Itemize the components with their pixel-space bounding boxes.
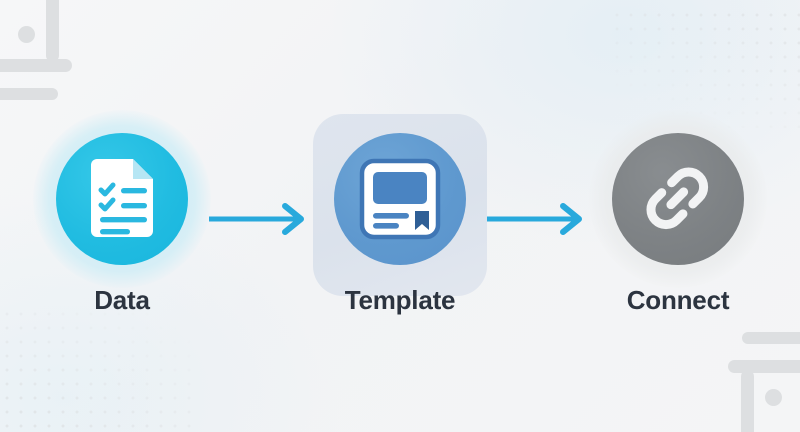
document-checklist-icon	[85, 157, 159, 241]
flow-diagram: Data Template	[0, 0, 800, 432]
step-label-connect: Connect	[585, 285, 771, 316]
arrow-right-icon	[209, 199, 313, 239]
arrow-right-icon	[487, 199, 591, 239]
step-circle-data	[56, 133, 188, 265]
flow-step-template[interactable]: Template	[307, 110, 493, 322]
diagram-canvas: Data Template	[0, 0, 800, 432]
step-label-template: Template	[307, 285, 493, 316]
flow-step-connect[interactable]: Connect	[585, 110, 771, 322]
step-label-data: Data	[29, 285, 215, 316]
arrow-template-to-connect	[487, 199, 591, 239]
step-circle-template	[334, 133, 466, 265]
step-circle-connect	[612, 133, 744, 265]
flow-step-data[interactable]: Data	[29, 110, 215, 322]
chain-link-icon	[638, 159, 718, 239]
template-layout-icon	[359, 158, 441, 240]
arrow-data-to-template	[209, 199, 313, 239]
